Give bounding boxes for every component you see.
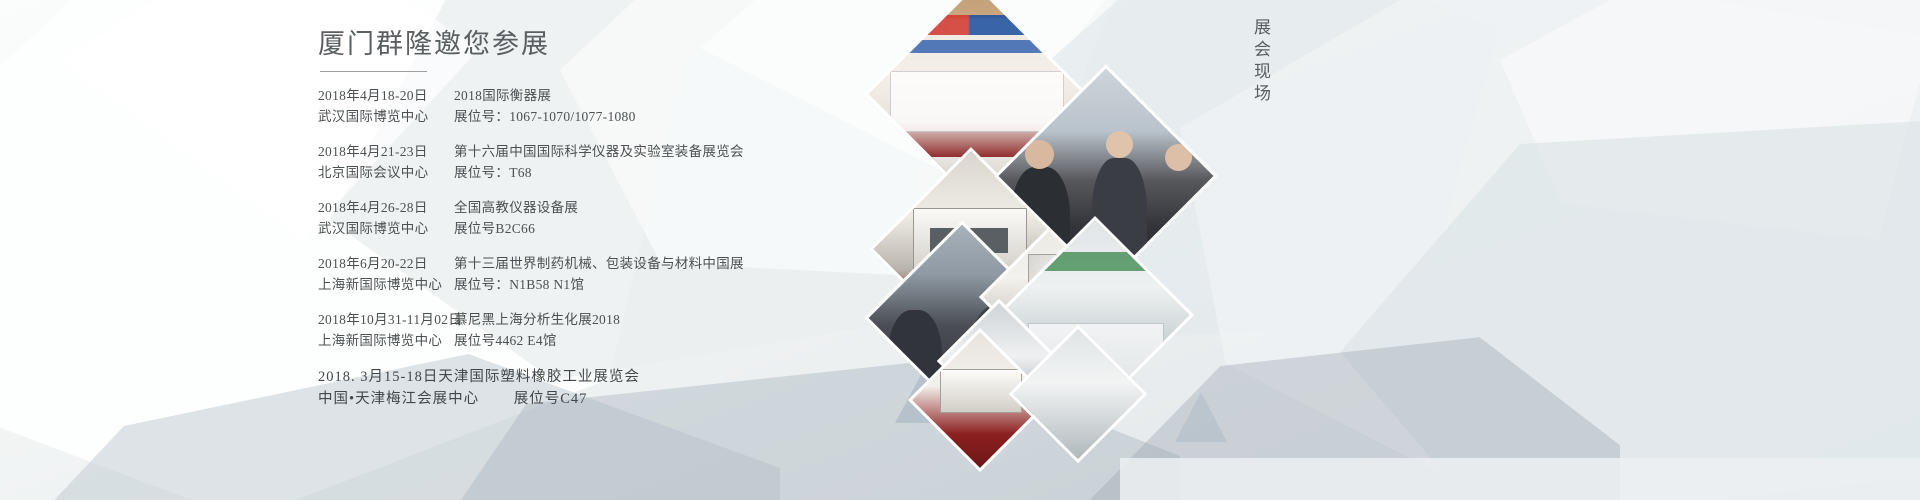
event-venue: 中国•天津梅江会展中心 bbox=[318, 391, 479, 407]
visitor-head bbox=[1106, 131, 1133, 158]
event-venue: 北京国际会议中心 bbox=[318, 163, 438, 184]
booth-poster bbox=[890, 71, 1064, 132]
event-title: 慕尼黑上海分析生化展2018 bbox=[438, 310, 620, 331]
vertical-section-label: 展会现场 bbox=[1248, 18, 1273, 106]
background-polygon bbox=[1180, 0, 1920, 500]
event-entry: 2018年4月26-28日 全国高教仪器设备展 武汉国际博览中心 展位号B2C6… bbox=[318, 198, 878, 239]
exhibition-banner: 厦门群隆邀您参展 2018年4月18-20日 2018国际衡器展 武汉国际博览中… bbox=[0, 0, 1920, 500]
title-underline bbox=[320, 71, 427, 72]
event-entry: 2018年6月20-22日 第十三届世界制药机械、包装设备与材料中国展 上海新国… bbox=[318, 254, 878, 295]
event-row-venue: 中国•天津梅江会展中心 展位号C47 bbox=[318, 388, 878, 410]
exhibition-schedule: 厦门群隆邀您参展 2018年4月18-20日 2018国际衡器展 武汉国际博览中… bbox=[318, 22, 878, 425]
event-row-date: 2018年4月18-20日 2018国际衡器展 bbox=[318, 86, 878, 107]
event-date: 2018年4月26-28日 bbox=[318, 198, 438, 219]
event-entry: 2018年10月31-11月02日 慕尼黑上海分析生化展2018 上海新国际博览… bbox=[318, 310, 878, 351]
event-entry: 2018. 3月15-18日天津国际塑料橡胶工业展览会 中国•天津梅江会展中心 … bbox=[318, 366, 878, 410]
event-venue: 上海新国际博览中心 bbox=[318, 275, 438, 296]
event-row-date: 2018年10月31-11月02日 慕尼黑上海分析生化展2018 bbox=[318, 310, 878, 331]
event-booth: 展位号：T68 bbox=[438, 163, 532, 184]
photo-collage bbox=[840, 0, 1240, 500]
page-title: 厦门群隆邀您参展 bbox=[318, 22, 878, 68]
event-title: 第十六届中国国际科学仪器及实验室装备展览会 bbox=[438, 142, 744, 163]
event-row-date: 2018年4月21-23日 第十六届中国国际科学仪器及实验室装备展览会 bbox=[318, 142, 878, 163]
bottom-band bbox=[1120, 458, 1920, 500]
visitor-head bbox=[1025, 140, 1054, 169]
background-polygon bbox=[1340, 120, 1920, 500]
event-date: 2018年6月20-22日 bbox=[318, 254, 438, 275]
visitor-head bbox=[1165, 144, 1192, 171]
event-row-venue: 武汉国际博览中心 展位号：1067-1070/1077-1080 bbox=[318, 107, 878, 128]
event-title: 第十三届世界制药机械、包装设备与材料中国展 bbox=[438, 254, 744, 275]
event-row-venue: 武汉国际博览中心 展位号B2C66 bbox=[318, 219, 878, 240]
event-date: 2018. 3月15-18日天津国际塑料橡胶工业展览会 bbox=[318, 369, 640, 385]
event-row-date: 2018年4月26-28日 全国高教仪器设备展 bbox=[318, 198, 878, 219]
event-booth: 展位号：1067-1070/1077-1080 bbox=[438, 107, 636, 128]
event-date: 2018年4月21-23日 bbox=[318, 142, 438, 163]
event-title: 全国高教仪器设备展 bbox=[438, 198, 578, 219]
event-row-date: 2018. 3月15-18日天津国际塑料橡胶工业展览会 bbox=[318, 366, 878, 388]
event-venue: 武汉国际博览中心 bbox=[318, 219, 438, 240]
event-booth: 展位号：N1B58 N1馆 bbox=[438, 275, 584, 296]
event-venue: 武汉国际博览中心 bbox=[318, 107, 438, 128]
event-row-venue: 北京国际会议中心 展位号：T68 bbox=[318, 163, 878, 184]
event-row-venue: 上海新国际博览中心 展位号4462 E4馆 bbox=[318, 331, 878, 352]
background-polygon bbox=[1500, 0, 1920, 240]
event-title: 2018国际衡器展 bbox=[438, 86, 551, 107]
event-booth: 展位号C47 bbox=[484, 391, 588, 407]
event-row-date: 2018年6月20-22日 第十三届世界制药机械、包装设备与材料中国展 bbox=[318, 254, 878, 275]
event-venue: 上海新国际博览中心 bbox=[318, 331, 438, 352]
event-date: 2018年4月18-20日 bbox=[318, 86, 438, 107]
event-entry: 2018年4月18-20日 2018国际衡器展 武汉国际博览中心 展位号：106… bbox=[318, 86, 878, 127]
event-entry: 2018年4月21-23日 第十六届中国国际科学仪器及实验室装备展览会 北京国际… bbox=[318, 142, 878, 183]
event-booth: 展位号B2C66 bbox=[438, 219, 535, 240]
event-date: 2018年10月31-11月02日 bbox=[318, 310, 438, 331]
event-booth: 展位号4462 E4馆 bbox=[438, 331, 557, 352]
event-row-venue: 上海新国际博览中心 展位号：N1B58 N1馆 bbox=[318, 275, 878, 296]
